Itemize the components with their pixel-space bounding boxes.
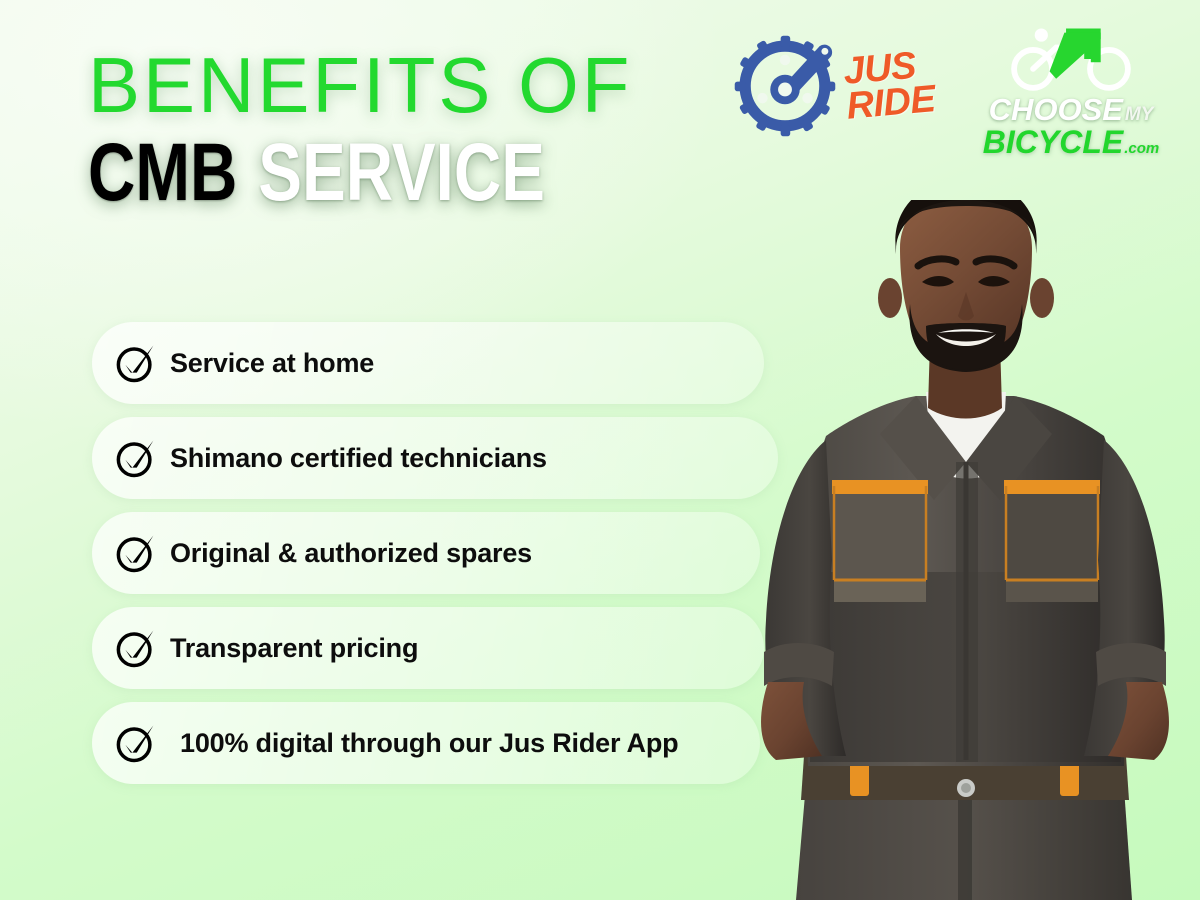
jacket-body xyxy=(806,396,1125,766)
eyebrow-right xyxy=(976,259,1014,266)
title-word-service: SERVICE xyxy=(258,127,545,218)
logo-group: JUS RIDE CHOO xyxy=(733,26,1164,158)
title-line-cmb-service: CMBSERVICE xyxy=(88,134,600,212)
check-circle-icon xyxy=(114,342,156,384)
benefit-item[interactable]: Service at home xyxy=(92,322,764,404)
check-circle-icon xyxy=(114,722,156,764)
choosemybicycle-wordmark: CHOOSE MY BICYCLE .com xyxy=(983,94,1159,158)
eye-right xyxy=(978,276,1010,287)
hair xyxy=(895,200,1036,250)
jusride-logo[interactable]: JUS RIDE xyxy=(733,26,934,138)
trousers xyxy=(796,760,1132,900)
belt xyxy=(801,756,1129,800)
chest-pocket-right xyxy=(1004,480,1100,602)
lapel-left xyxy=(880,396,966,500)
benefit-item[interactable]: Original & authorized spares xyxy=(92,512,760,594)
eye-left xyxy=(922,276,954,287)
chest-pocket-left xyxy=(832,480,928,602)
sleeve-right xyxy=(1084,440,1165,756)
choosemybicycle-logo[interactable]: CHOOSE MY BICYCLE .com xyxy=(978,26,1164,158)
nose xyxy=(958,292,974,321)
smile xyxy=(936,334,996,346)
check-circle-icon xyxy=(114,627,156,669)
check-circle-icon xyxy=(114,532,156,574)
check-circle-icon xyxy=(114,437,156,479)
belt-button xyxy=(957,779,975,797)
benefits-list: Service at home Shimano certified techni… xyxy=(92,322,792,797)
belt-loop-left xyxy=(850,752,869,796)
title-brand-cmb: CMB xyxy=(88,127,237,218)
benefit-item[interactable]: Transparent pricing xyxy=(92,607,764,689)
technician-illustration xyxy=(730,200,1200,900)
page-title: BENEFITS OF CMBSERVICE xyxy=(88,48,728,212)
benefit-label: Shimano certified technicians xyxy=(170,443,547,474)
logo-word-bicycle: BICYCLE xyxy=(983,126,1123,158)
jusride-word-ride: RIDE xyxy=(845,82,937,125)
benefit-label: Original & authorized spares xyxy=(170,538,532,569)
logo-word-dotcom: .com xyxy=(1124,141,1159,156)
benefit-label: 100% digital through our Jus Rider App xyxy=(180,728,678,759)
eyebrow-left xyxy=(918,259,956,266)
benefit-label: Service at home xyxy=(170,348,374,379)
logo-word-my: MY xyxy=(1125,105,1154,124)
benefit-item[interactable]: 100% digital through our Jus Rider App xyxy=(92,702,760,784)
belt-loop-right xyxy=(1060,752,1079,796)
technician-photo xyxy=(730,200,1200,900)
title-line-benefits-of: BENEFITS OF xyxy=(88,48,728,122)
forearm-right xyxy=(1108,682,1169,760)
face xyxy=(900,200,1032,367)
head xyxy=(878,200,1054,372)
jusride-wordmark: JUS RIDE xyxy=(842,47,937,124)
beard xyxy=(909,304,1022,372)
benefit-label: Transparent pricing xyxy=(170,633,418,664)
poster-canvas: BENEFITS OF CMBSERVICE xyxy=(0,0,1200,900)
lapel-right xyxy=(966,396,1052,500)
bicycle-arrow-icon xyxy=(1005,26,1137,92)
neck xyxy=(928,342,1002,419)
logo-word-choose: CHOOSE xyxy=(989,94,1123,125)
benefit-item[interactable]: Shimano certified technicians xyxy=(92,417,778,499)
undershirt xyxy=(926,392,1006,479)
chainring-crank-icon xyxy=(733,34,837,138)
cuff-right xyxy=(1096,643,1166,686)
